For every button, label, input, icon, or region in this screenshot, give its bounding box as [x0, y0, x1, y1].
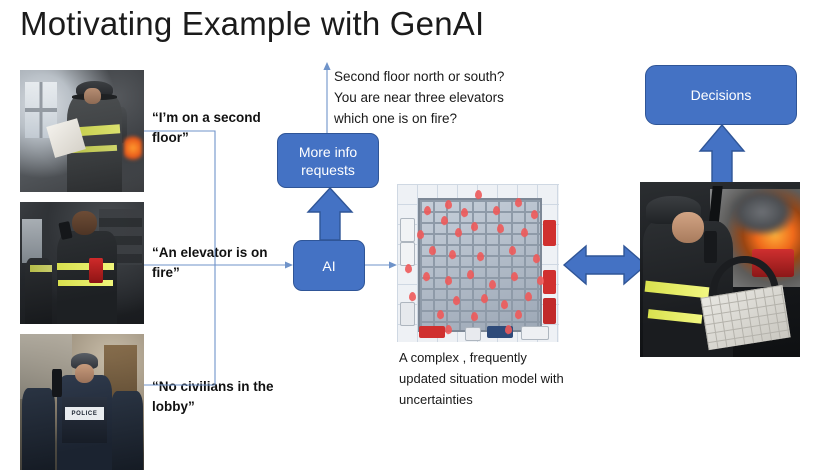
radio-device-shape	[704, 231, 717, 263]
connector-second-floor	[144, 131, 215, 265]
more-info-line-2: requests	[299, 161, 357, 179]
question-line-2: You are near three elevators	[334, 87, 584, 108]
map-pin	[525, 292, 532, 301]
caption-line-3: uncertainties	[399, 389, 614, 410]
map-pin	[449, 250, 456, 259]
decisions-label: Decisions	[691, 86, 752, 104]
map-pin	[537, 276, 544, 285]
map-pin	[445, 276, 452, 285]
map-pin	[481, 294, 488, 303]
vehicle-icon	[543, 298, 556, 324]
map-pin	[445, 200, 452, 209]
question-line-3: which one is on fire?	[334, 108, 584, 129]
block-arrow-up-decisions	[698, 123, 746, 185]
map-pin	[501, 300, 508, 309]
map-pin	[423, 272, 430, 281]
map-pin	[515, 198, 522, 207]
info-request-question-text: Second floor north or south? You are nea…	[334, 66, 584, 129]
map-pin	[533, 254, 540, 263]
vehicle-icon	[400, 302, 415, 326]
map-pin	[489, 280, 496, 289]
caption-line-1: A complex , frequently	[399, 347, 614, 368]
node-more-info-requests[interactable]: More info requests	[277, 133, 379, 188]
map-pin	[424, 206, 431, 215]
situation-model-floorplan	[397, 184, 559, 342]
map-pin	[461, 208, 468, 217]
map-pin	[441, 216, 448, 225]
node-decisions[interactable]: Decisions	[645, 65, 797, 125]
node-ai[interactable]: AI	[293, 240, 365, 291]
caption-line-2: updated situation model with	[399, 368, 614, 389]
connector-arrowhead-model	[389, 262, 397, 269]
map-pin	[429, 246, 436, 255]
block-arrow-up-more-info	[305, 186, 355, 242]
slide-canvas: Motivating Example with GenAI	[0, 0, 825, 470]
vehicle-icon	[400, 242, 415, 266]
map-pin	[409, 292, 416, 301]
block-arrow-double-headed-model-responder	[562, 243, 648, 287]
vehicle-icon	[521, 326, 549, 340]
vehicle-icon	[543, 220, 556, 246]
map-pin	[505, 325, 512, 334]
map-pin	[445, 325, 452, 334]
ai-label: AI	[322, 257, 335, 275]
map-pin	[455, 228, 462, 237]
map-pin	[531, 210, 538, 219]
map-pin	[437, 310, 444, 319]
map-pin	[453, 296, 460, 305]
map-pin	[509, 246, 516, 255]
map-pin	[511, 272, 518, 281]
more-info-line-1: More info	[299, 143, 357, 161]
situation-model-caption: A complex , frequently updated situation…	[399, 347, 614, 410]
photo-scene	[640, 182, 800, 357]
question-line-1: Second floor north or south?	[334, 66, 584, 87]
map-pin	[521, 228, 528, 237]
map-pin	[497, 224, 504, 233]
connector-arrowhead-ai	[285, 262, 293, 269]
vehicle-icon	[400, 218, 415, 242]
connector-arrowhead-question	[323, 62, 330, 70]
map-pin	[493, 206, 500, 215]
vehicle-icon	[543, 270, 556, 294]
map-pin	[405, 264, 412, 273]
map-pin	[417, 230, 424, 239]
map-pin	[467, 270, 474, 279]
map-pin	[471, 222, 478, 231]
vehicle-icon	[419, 326, 445, 338]
map-pin	[515, 310, 522, 319]
smoke-plume-shape	[730, 189, 794, 235]
map-pin	[471, 312, 478, 321]
photo-firefighter-in-vehicle-with-map	[640, 182, 800, 357]
vehicle-icon	[465, 327, 481, 341]
map-pin	[477, 252, 484, 261]
face-shape	[672, 212, 704, 244]
map-pin	[475, 190, 482, 199]
